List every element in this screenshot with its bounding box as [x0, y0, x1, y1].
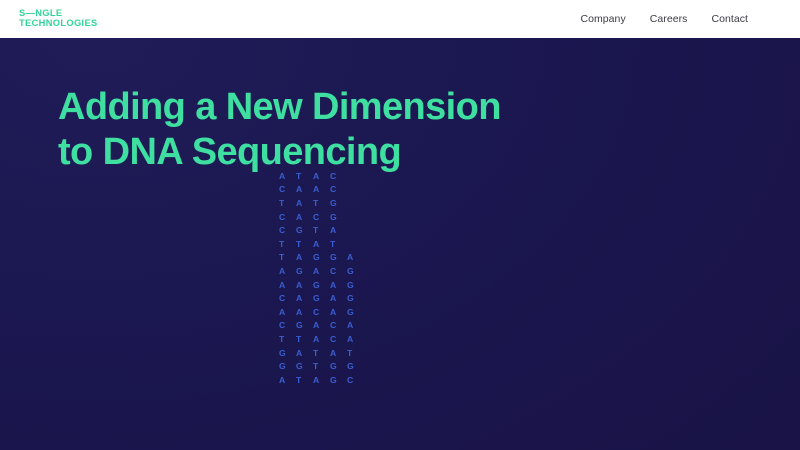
dna-base: C [347, 375, 364, 385]
dna-base: C [330, 184, 347, 194]
dna-base: A [347, 320, 364, 330]
dna-base: G [313, 293, 330, 303]
hero-section: ATACCAACTATGCACGCGTATTATTAGGAAGACGAAGAGC… [0, 38, 800, 450]
dna-base: A [296, 348, 313, 358]
dna-row: CAAC [279, 183, 364, 197]
dna-base: G [347, 280, 364, 290]
landing-page: S—NGLE TECHNOLOGIES Company Careers Cont… [0, 0, 800, 450]
dna-base: A [347, 252, 364, 262]
dna-row: TTAT [279, 237, 364, 251]
nav-item-contact[interactable]: Contact [711, 13, 748, 25]
main-navigation: Company Careers Contact [580, 13, 748, 25]
dna-base: G [347, 361, 364, 371]
dna-base: C [313, 212, 330, 222]
dna-base: A [330, 280, 347, 290]
dna-base: G [330, 198, 347, 208]
dna-base: G [330, 212, 347, 222]
dna-row: CGTA [279, 223, 364, 237]
dna-base: A [313, 375, 330, 385]
dna-base: G [347, 307, 364, 317]
dna-base: C [279, 225, 296, 235]
dna-base: A [296, 184, 313, 194]
dna-row: CGACA [279, 319, 364, 333]
dna-base: C [330, 320, 347, 330]
dna-base: T [313, 348, 330, 358]
dna-base: C [279, 293, 296, 303]
dna-base: G [313, 252, 330, 262]
dna-base: A [313, 334, 330, 344]
dna-base: T [296, 375, 313, 385]
dna-base: C [330, 334, 347, 344]
page-title: Adding a New Dimension to DNA Sequencing [58, 85, 501, 175]
dna-row: CACG [279, 210, 364, 224]
dna-base: C [313, 307, 330, 317]
dna-base: A [330, 307, 347, 317]
dna-base: A [313, 266, 330, 276]
logo-line-2: TECHNOLOGIES [19, 19, 98, 29]
dna-base: G [313, 280, 330, 290]
dna-row: AACAG [279, 305, 364, 319]
dna-base: A [279, 307, 296, 317]
dna-row: GGTGG [279, 359, 364, 373]
dna-base: G [296, 320, 313, 330]
dna-base: T [296, 239, 313, 249]
dna-base: A [279, 280, 296, 290]
dna-base: A [296, 280, 313, 290]
dna-row: ATAGC [279, 373, 364, 387]
dna-base: T [279, 198, 296, 208]
dna-base: G [296, 361, 313, 371]
dna-row: CAGAG [279, 291, 364, 305]
dna-base: T [313, 198, 330, 208]
dna-base: G [296, 225, 313, 235]
dna-base: T [279, 239, 296, 249]
dna-row: AAGAG [279, 278, 364, 292]
dna-base: G [279, 348, 296, 358]
dna-base: T [330, 239, 347, 249]
dna-base: A [347, 334, 364, 344]
dna-base: G [330, 361, 347, 371]
dna-row: GATAT [279, 346, 364, 360]
dna-base: C [279, 320, 296, 330]
dna-row: TAGGA [279, 251, 364, 265]
dna-base: A [279, 375, 296, 385]
dna-base: A [296, 198, 313, 208]
dna-base: A [296, 293, 313, 303]
nav-item-company[interactable]: Company [580, 13, 625, 25]
dna-base: A [313, 239, 330, 249]
dna-base: A [296, 307, 313, 317]
dna-base: A [330, 293, 347, 303]
dna-base: A [330, 348, 347, 358]
dna-row: TATG [279, 196, 364, 210]
site-logo[interactable]: S—NGLE TECHNOLOGIES [19, 9, 98, 28]
dna-base: C [279, 184, 296, 194]
nav-item-careers[interactable]: Careers [650, 13, 688, 25]
dna-base: G [330, 252, 347, 262]
dna-base: A [313, 184, 330, 194]
dna-base: A [296, 212, 313, 222]
dna-base: A [330, 225, 347, 235]
site-header: S—NGLE TECHNOLOGIES Company Careers Cont… [0, 0, 800, 38]
dna-base: C [279, 212, 296, 222]
dna-base: G [347, 293, 364, 303]
dna-base: A [296, 252, 313, 262]
dna-base: T [313, 361, 330, 371]
dna-base: C [330, 266, 347, 276]
dna-base: T [296, 334, 313, 344]
dna-sequence-grid: ATACCAACTATGCACGCGTATTATTAGGAAGACGAAGAGC… [279, 169, 364, 387]
dna-base: A [313, 320, 330, 330]
dna-base: G [330, 375, 347, 385]
dna-base: T [279, 334, 296, 344]
dna-base: G [347, 266, 364, 276]
dna-row: AGACG [279, 264, 364, 278]
dna-row: TTACA [279, 332, 364, 346]
dna-base: G [296, 266, 313, 276]
dna-base: T [279, 252, 296, 262]
dna-base: T [313, 225, 330, 235]
dna-base: A [279, 266, 296, 276]
dna-base: G [279, 361, 296, 371]
dna-base: T [347, 348, 364, 358]
